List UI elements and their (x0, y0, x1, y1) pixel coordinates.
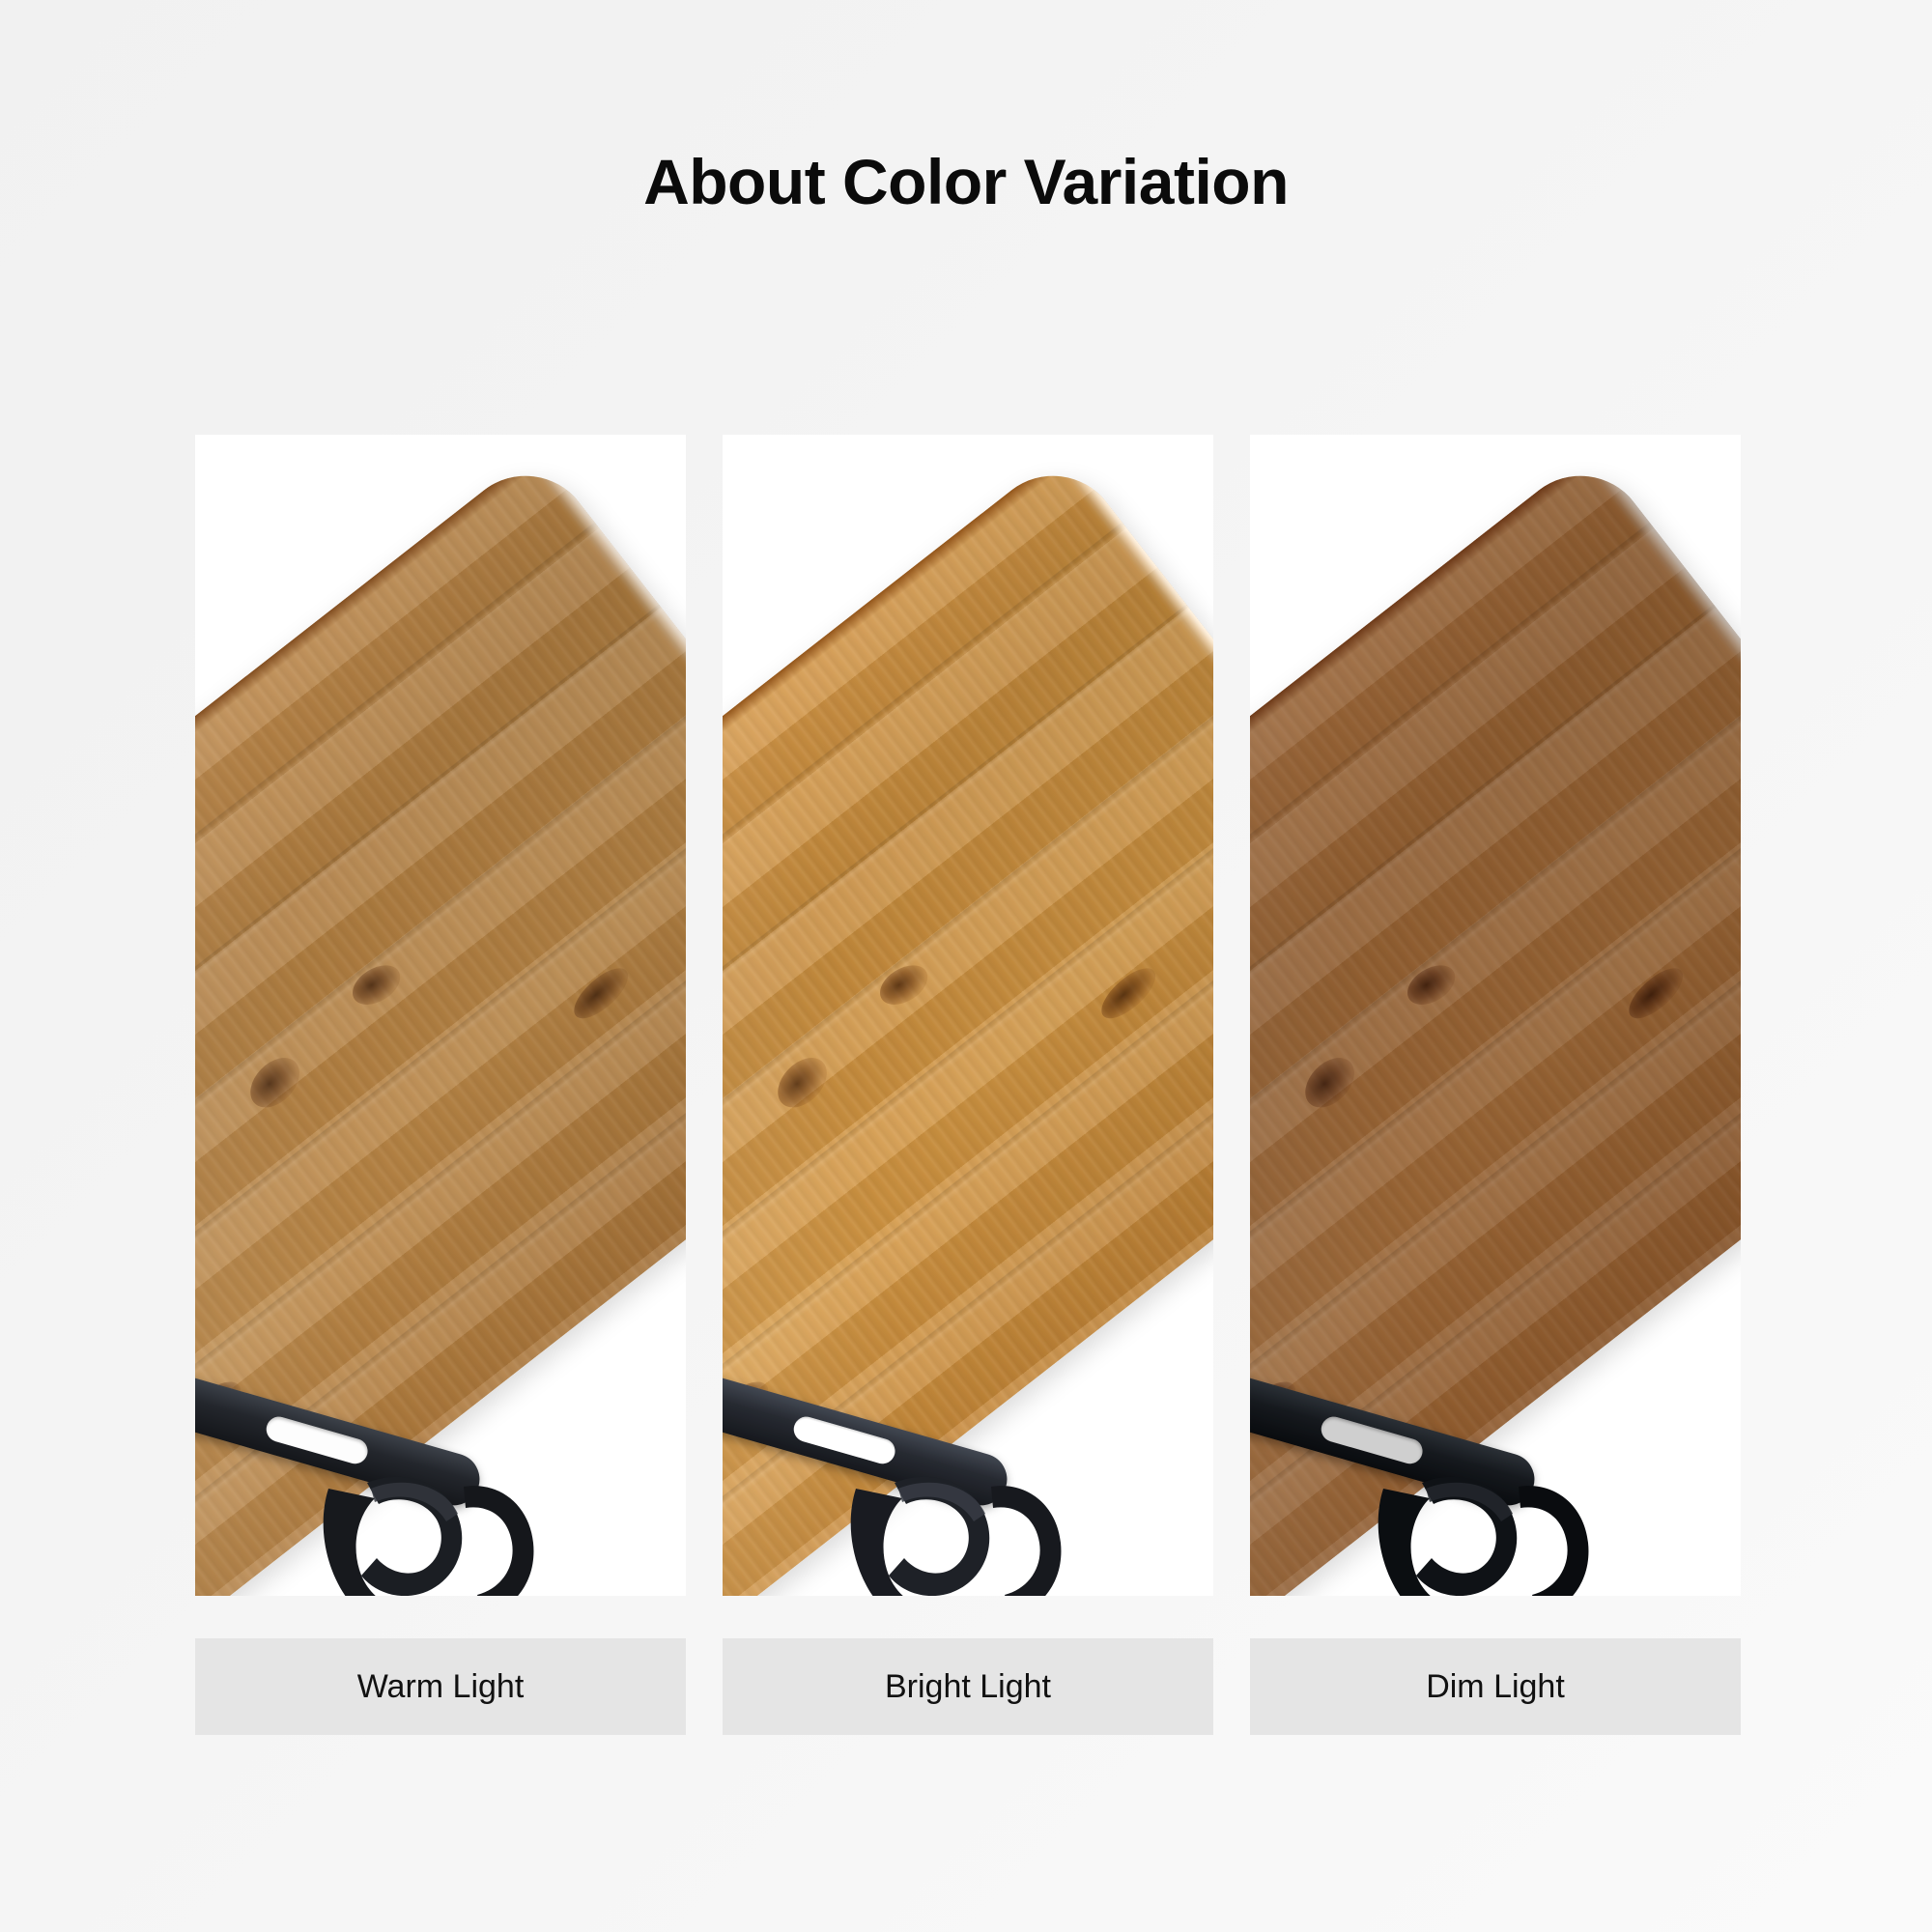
curved-metal-leg-icon (311, 1473, 601, 1596)
variation-card-warm-light[interactable]: Warm Light (195, 435, 686, 1735)
curved-metal-leg-icon (838, 1473, 1128, 1596)
variation-card-dim-light[interactable]: Dim Light (1250, 435, 1741, 1735)
curved-metal-leg-icon (1366, 1473, 1656, 1596)
color-variation-gallery: Warm Light (195, 435, 1739, 1735)
product-photo-warm-light (195, 435, 686, 1596)
table-top-image-bright (723, 435, 1213, 1596)
variation-caption-bright-light: Bright Light (723, 1638, 1213, 1735)
variation-caption-dim-light: Dim Light (1250, 1638, 1741, 1735)
product-photo-dim-light (1250, 435, 1741, 1596)
table-top-image-warm (195, 435, 686, 1596)
variation-caption-warm-light: Warm Light (195, 1638, 686, 1735)
variation-card-bright-light[interactable]: Bright Light (723, 435, 1213, 1735)
page-title: About Color Variation (0, 145, 1932, 218)
product-photo-bright-light (723, 435, 1213, 1596)
table-top-image-dim (1250, 435, 1741, 1596)
